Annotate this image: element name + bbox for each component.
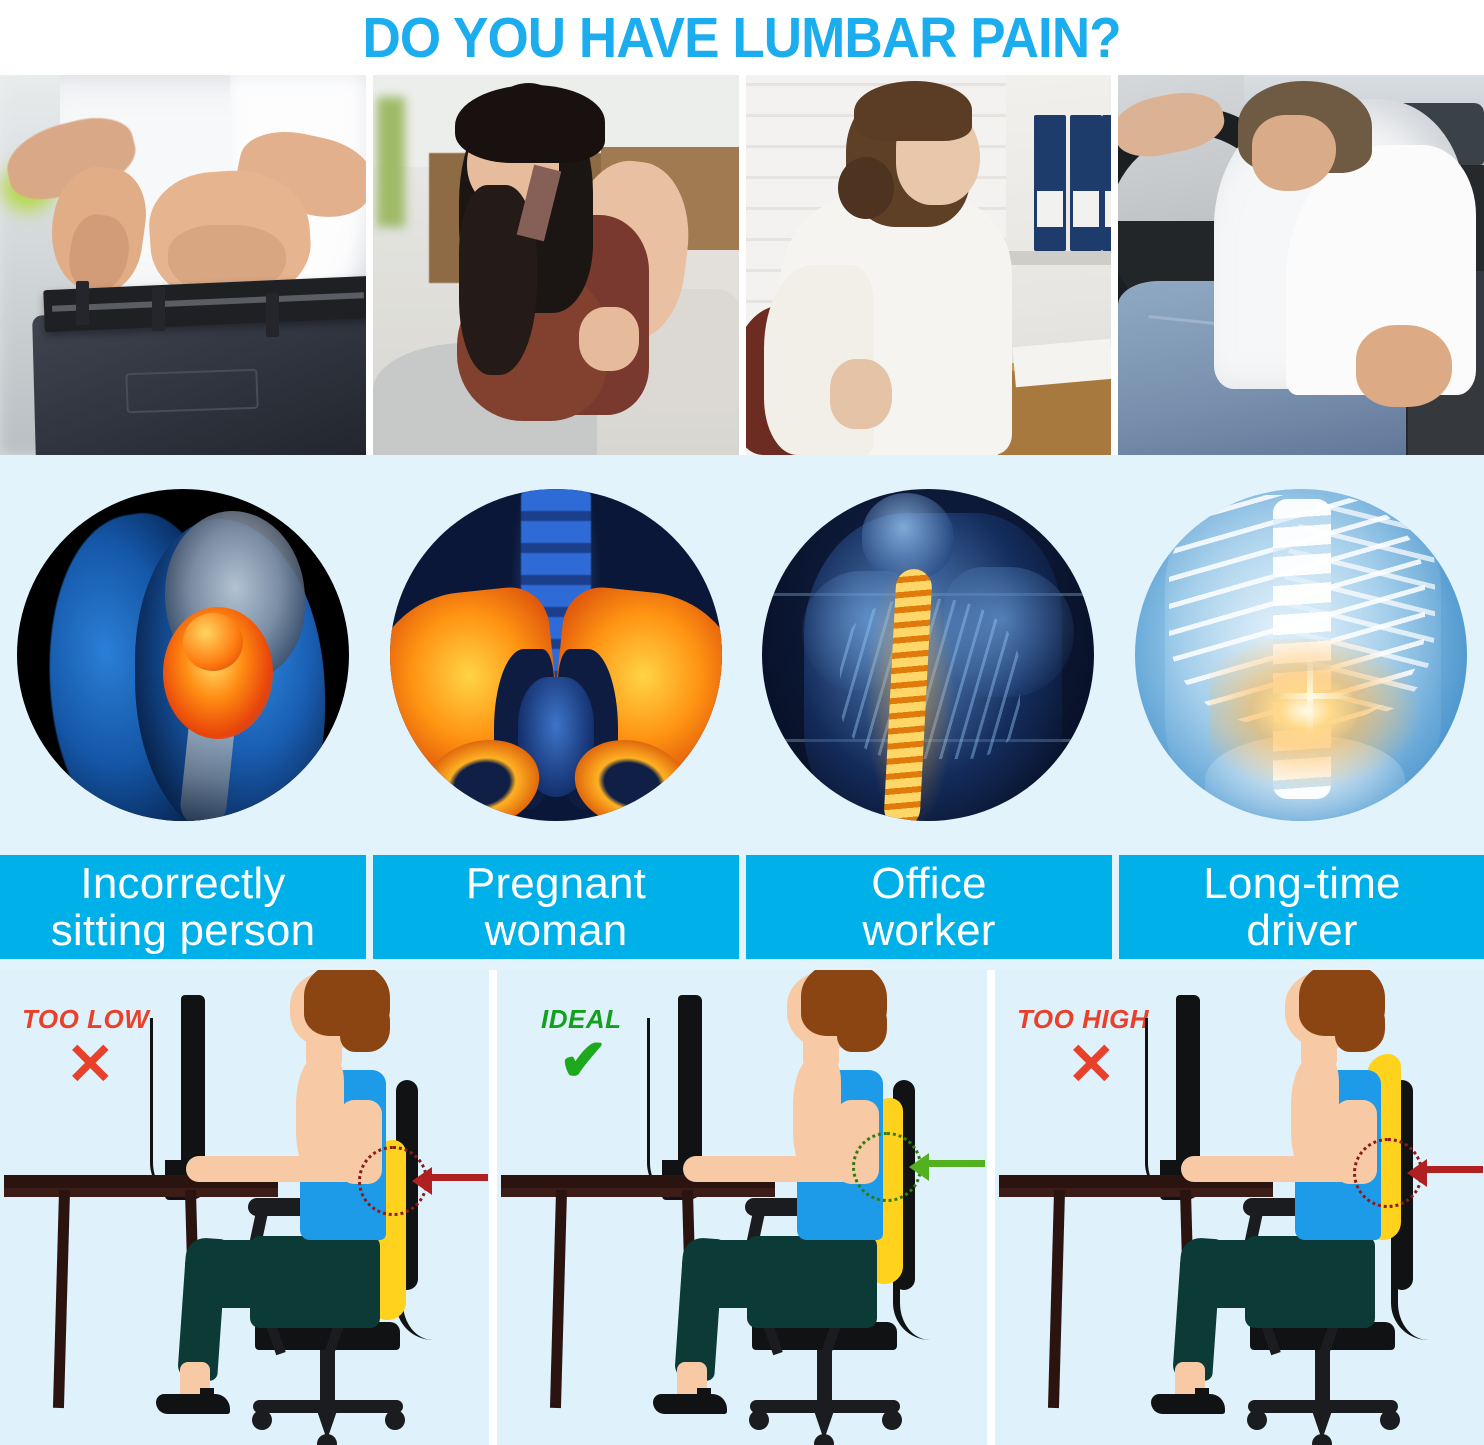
label-cell-pregnant-woman: Pregnant woman	[373, 855, 739, 970]
persona-label: Long-time driver	[1203, 860, 1400, 954]
persona-label-row: Incorrectly sitting person Pregnant woma…	[0, 855, 1484, 970]
pressure-arrow	[925, 1160, 985, 1167]
photo-long-time-driver	[1118, 75, 1484, 455]
persona-label: Office worker	[862, 860, 995, 954]
pressure-arrow	[1423, 1166, 1483, 1173]
medical-circle-spine-back	[746, 455, 1112, 855]
label-cell-long-time-driver: Long-time driver	[1119, 855, 1484, 970]
posture-comparison-row: TOO LOW ✕	[0, 970, 1484, 1445]
persona-photo-row	[0, 75, 1484, 455]
cross-icon: ✕	[66, 1036, 115, 1094]
cross-icon: ✕	[1067, 1036, 1116, 1094]
label-cell-office-worker: Office worker	[746, 855, 1112, 970]
posture-panel-too-high: TOO HIGH ✕	[995, 970, 1484, 1445]
persona-label: Incorrectly sitting person	[51, 860, 316, 954]
photo-pregnant-woman	[373, 75, 739, 455]
photo-office-worker	[746, 75, 1112, 455]
photo-incorrect-sitting	[0, 75, 366, 455]
medical-circle-pelvis	[373, 455, 739, 855]
posture-tag: TOO LOW	[22, 1004, 149, 1035]
posture-panel-ideal: IDEAL ✔	[497, 970, 987, 1445]
persona-label: Pregnant woman	[466, 860, 646, 954]
page-title: DO YOU HAVE LUMBAR PAIN?	[363, 5, 1121, 71]
infographic-page: DO YOU HAVE LUMBAR PAIN?	[0, 0, 1484, 1445]
header-banner: DO YOU HAVE LUMBAR PAIN?	[0, 0, 1484, 75]
medical-circle-lumbar-xray	[1118, 455, 1484, 855]
posture-panel-too-low: TOO LOW ✕	[0, 970, 489, 1445]
check-icon: ✔	[559, 1032, 608, 1090]
label-cell-incorrect-sitting: Incorrectly sitting person	[0, 855, 366, 970]
posture-tag: TOO HIGH	[1017, 1004, 1149, 1035]
medical-circle-hip	[0, 455, 366, 855]
medical-illustration-row	[0, 455, 1484, 855]
pressure-arrow	[428, 1174, 488, 1181]
